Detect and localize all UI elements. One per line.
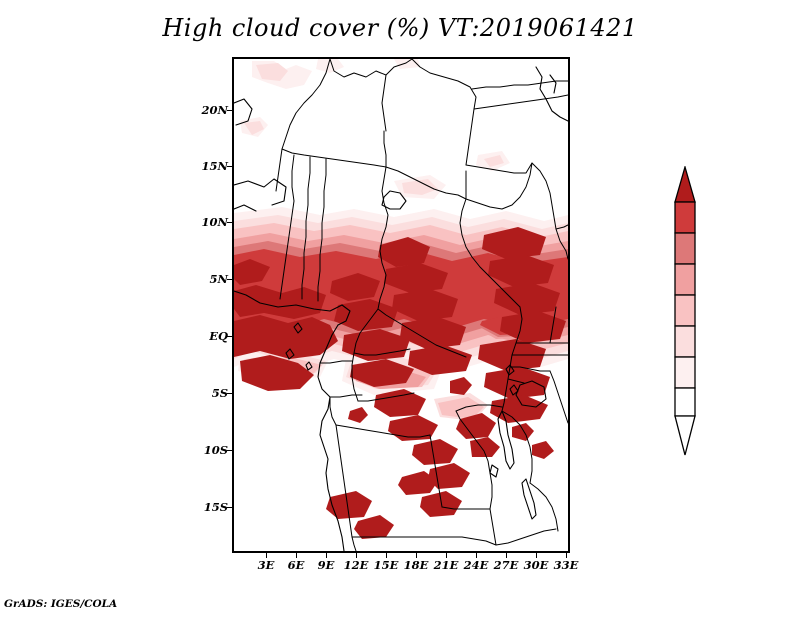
y-tick-mark-EQ (227, 336, 232, 337)
colorbar-band-95-97p5 (675, 202, 695, 233)
x-tick-mark-21E (446, 553, 447, 558)
cloud-cover-raster (234, 59, 568, 551)
colorbar-band-90-92p5 (675, 264, 695, 295)
x-tick-label-24E: 24E (464, 558, 489, 572)
y-tick-mark-15S (227, 507, 232, 508)
x-tick-mark-18E (416, 553, 417, 558)
x-tick-label-30E: 30E (524, 558, 549, 572)
x-tick-mark-15E (386, 553, 387, 558)
x-tick-mark-9E (326, 553, 327, 558)
x-tick-label-12E: 12E (344, 558, 369, 572)
x-tick-label-15E: 15E (374, 558, 399, 572)
y-tick-mark-10S (227, 450, 232, 451)
x-tick-mark-27E (506, 553, 507, 558)
figure-canvas: High cloud cover (%) VT:2019061421 (0, 0, 800, 618)
y-tick-label-15N: 15N (186, 159, 228, 173)
y-tick-mark-10N (227, 222, 232, 223)
colorbar-band-92p5-95 (675, 233, 695, 264)
x-tick-mark-6E (296, 553, 297, 558)
y-tick-label-15S: 15S (186, 500, 228, 514)
y-tick-mark-15N (227, 166, 232, 167)
x-tick-label-21E: 21E (434, 558, 459, 572)
y-tick-mark-20N (227, 110, 232, 111)
x-tick-label-33E: 33E (554, 558, 579, 572)
x-tick-label-9E: 9E (318, 558, 335, 572)
y-tick-mark-5S (227, 393, 232, 394)
colorbar-over-arrow (675, 167, 695, 202)
x-tick-mark-12E (356, 553, 357, 558)
map-plot-area[interactable] (232, 57, 570, 553)
colorbar-under-arrow (675, 416, 695, 455)
x-tick-label-6E: 6E (288, 558, 305, 572)
colorbar-band-87p5-90 (675, 295, 695, 326)
colorbar[interactable]: 97.5 95 92.5 90 87.5 70 50 (672, 166, 698, 456)
y-tick-label-10N: 10N (186, 215, 228, 229)
x-tick-mark-33E (566, 553, 567, 558)
y-tick-mark-5N (227, 279, 232, 280)
x-tick-mark-24E (476, 553, 477, 558)
y-tick-label-EQ: EQ (186, 329, 228, 343)
colorbar-band-under-50 (675, 388, 695, 416)
attribution-label: GrADS: IGES/COLA (4, 598, 117, 610)
colorbar-band-50-70 (675, 357, 695, 388)
x-tick-mark-3E (266, 553, 267, 558)
y-tick-label-20N: 20N (186, 103, 228, 117)
x-tick-label-27E: 27E (494, 558, 519, 572)
y-tick-label-5N: 5N (186, 272, 228, 286)
x-tick-mark-30E (536, 553, 537, 558)
colorbar-band-70-87p5 (675, 326, 695, 357)
y-tick-label-5S: 5S (186, 386, 228, 400)
page-title: High cloud cover (%) VT:2019061421 (0, 14, 800, 42)
x-tick-label-3E: 3E (258, 558, 275, 572)
x-tick-label-18E: 18E (404, 558, 429, 572)
y-tick-label-10S: 10S (186, 443, 228, 457)
